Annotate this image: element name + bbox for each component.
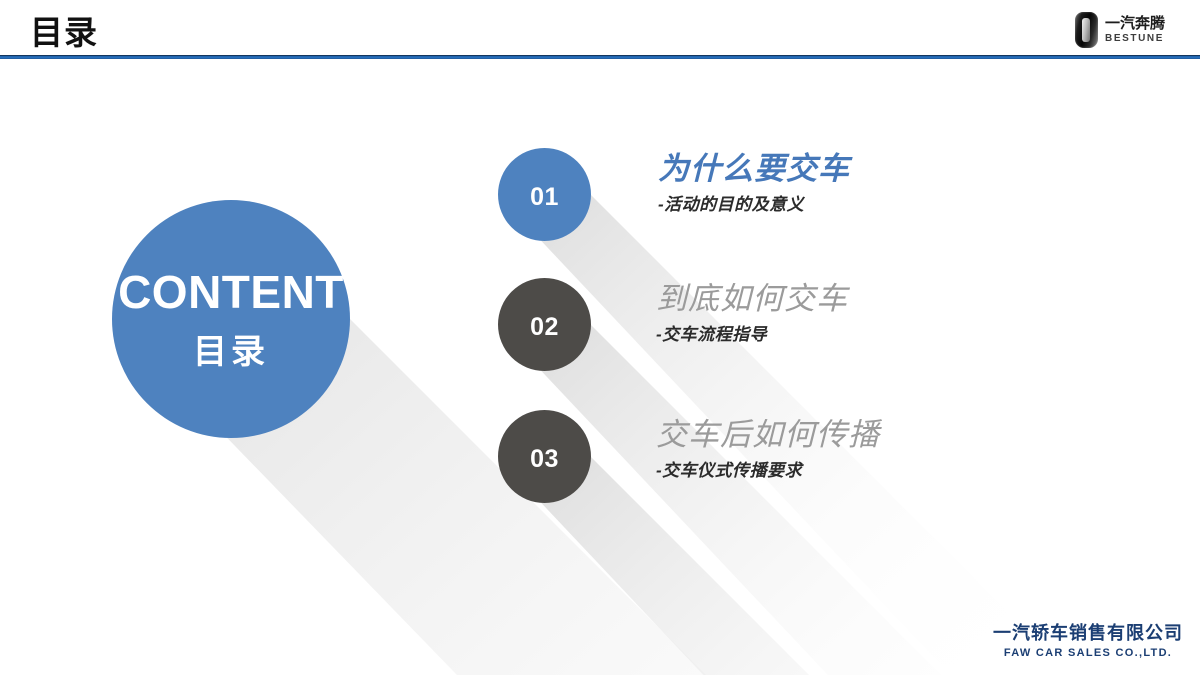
toc-item-02-number-circle[interactable]: 02 — [498, 278, 591, 371]
brand-logo-text: 一汽奔腾 BESTUNE — [1105, 16, 1165, 44]
toc-item-02-subtitle: -交车流程指导 — [656, 325, 1126, 345]
slide-header: 目录 — [0, 0, 1200, 58]
brand-name-en: BESTUNE — [1105, 34, 1165, 44]
toc-item-02[interactable]: 02 到底如何交车 -交车流程指导 — [498, 278, 1138, 378]
toc-item-03-number: 03 — [530, 447, 559, 472]
toc-item-02-title: 到底如何交车 — [656, 282, 1126, 317]
brand-logo: 一汽奔腾 BESTUNE — [1075, 9, 1193, 51]
footer-company-logo: 一汽轿车销售有限公司 FAW CAR SALES CO.,LTD. — [988, 624, 1188, 659]
toc-item-03-number-circle[interactable]: 03 — [498, 410, 591, 503]
toc-item-03[interactable]: 03 交车后如何传播 -交车仪式传播要求 — [498, 410, 1138, 510]
toc-item-01-text: 为什么要交车 -活动的目的及意义 — [658, 152, 1128, 215]
toc-item-03-subtitle: -交车仪式传播要求 — [656, 461, 1126, 481]
toc-item-01-title: 为什么要交车 — [658, 152, 1128, 187]
brand-name-cn: 一汽奔腾 — [1105, 16, 1165, 31]
toc-item-01-number-circle[interactable]: 01 — [498, 148, 591, 241]
toc-item-03-text: 交车后如何传播 -交车仪式传播要求 — [656, 418, 1126, 481]
footer-company-cn: 一汽轿车销售有限公司 — [988, 624, 1188, 644]
bestune-emblem-icon — [1075, 12, 1098, 48]
toc-item-02-text: 到底如何交车 -交车流程指导 — [656, 282, 1126, 345]
toc-item-02-number: 02 — [530, 315, 559, 340]
toc-item-01[interactable]: 01 为什么要交车 -活动的目的及意义 — [498, 148, 1138, 248]
header-divider — [0, 55, 1200, 59]
toc-item-01-subtitle: -活动的目的及意义 — [658, 195, 1128, 215]
footer-company-en: FAW CAR SALES CO.,LTD. — [988, 647, 1188, 659]
toc-item-01-number: 01 — [530, 185, 559, 210]
slide-canvas: 目录 一汽奔腾 BESTUNE — [0, 0, 1200, 675]
toc-item-03-title: 交车后如何传播 — [656, 418, 1126, 453]
hero-title-en: CONTENT — [118, 269, 344, 315]
content-hero-circle[interactable]: CONTENT 目录 — [112, 200, 350, 438]
page-title: 目录 — [30, 13, 98, 53]
hero-title-cn: 目录 — [193, 335, 269, 369]
